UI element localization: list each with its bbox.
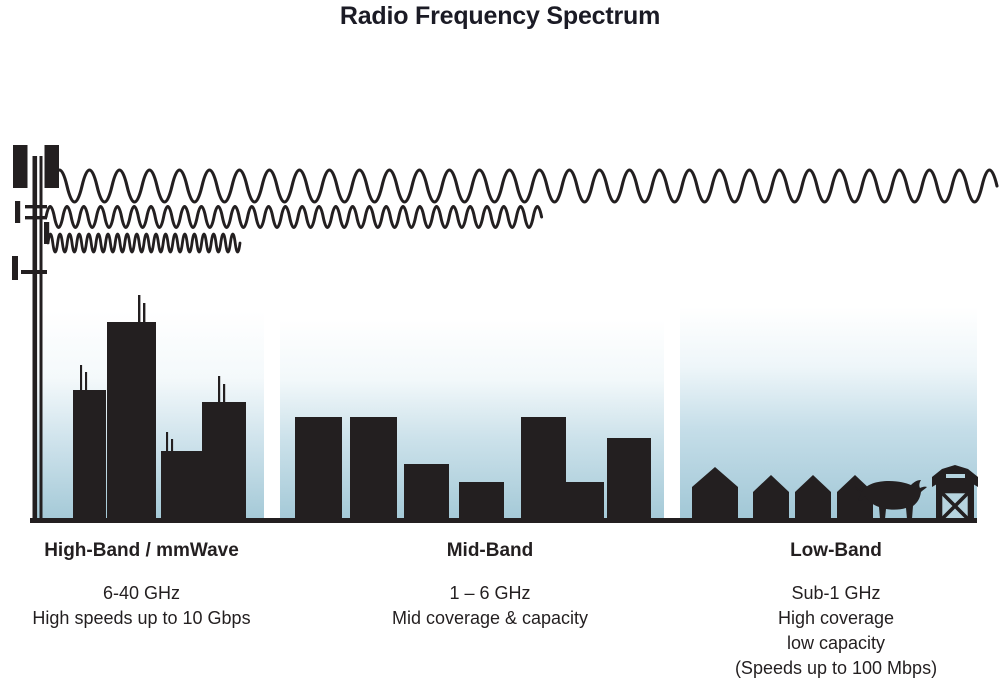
- band-detail-low-band-coverage: High coverage: [672, 606, 1000, 631]
- city-building: [202, 402, 246, 520]
- barn-loft-window: [946, 474, 965, 478]
- tower-crossbar-lower: [21, 270, 47, 274]
- band-frequency-high-band: 6-40 GHz: [0, 581, 283, 606]
- mid-building: [459, 482, 504, 520]
- band-name-low-band: Low-Band: [672, 540, 1000, 562]
- infographic-root: Radio Frequency Spectrum: [0, 0, 1000, 700]
- radio-waves: [46, 170, 997, 252]
- tower-crossbar-upper: [25, 205, 47, 208]
- city-building: [107, 322, 156, 520]
- secondary-antenna-lower: [12, 256, 18, 280]
- band-caption-low-band: Low-Band Sub-1 GHz High coverage low cap…: [672, 540, 1000, 681]
- band-name-high-band: High-Band / mmWave: [0, 540, 283, 562]
- secondary-antenna-left: [15, 201, 20, 223]
- city-building: [161, 451, 202, 520]
- mid-building: [607, 438, 651, 520]
- tower-mast-left: [33, 156, 38, 520]
- city-antenna-spire: [218, 376, 220, 404]
- band-caption-mid-band: Mid-Band 1 – 6 GHz Mid coverage & capaci…: [325, 540, 655, 631]
- mid-building: [521, 417, 566, 520]
- band-name-mid-band: Mid-Band: [325, 540, 655, 562]
- spectrum-illustration: [0, 0, 1000, 540]
- city-antenna-spire: [143, 303, 145, 324]
- city-antenna-spire: [223, 384, 225, 404]
- band-caption-high-band: High-Band / mmWave 6-40 GHz High speeds …: [0, 540, 283, 631]
- spectrum-scene: [0, 0, 1000, 540]
- panel-antenna-left: [13, 145, 28, 188]
- city-building: [73, 390, 106, 520]
- high-frequency-wave: [48, 234, 240, 252]
- tower-mast-right: [40, 156, 43, 520]
- ground-line: [30, 518, 977, 523]
- barn: [932, 465, 978, 520]
- city-antenna-spire: [166, 432, 168, 454]
- band-detail-high-band: High speeds up to 10 Gbps: [0, 606, 283, 631]
- mid-building: [295, 417, 342, 520]
- mid-building: [566, 482, 604, 520]
- panel-antenna-right: [45, 145, 60, 188]
- band-frequency-mid-band: 1 – 6 GHz: [325, 581, 655, 606]
- band-detail-low-band-speed: (Speeds up to 100 Mbps): [672, 656, 1000, 681]
- band-frequency-low-band: Sub-1 GHz: [672, 581, 1000, 606]
- band-captions: High-Band / mmWave 6-40 GHz High speeds …: [0, 540, 1000, 700]
- mid-building: [404, 464, 449, 520]
- band-detail-low-band-capacity: low capacity: [672, 631, 1000, 656]
- mid-building: [350, 417, 397, 520]
- tower-crossbar-mid: [25, 216, 47, 219]
- city-antenna-spire: [138, 295, 140, 324]
- band-detail-mid-band: Mid coverage & capacity: [325, 606, 655, 631]
- secondary-antenna-inner: [44, 222, 49, 244]
- mid-frequency-wave: [46, 207, 542, 228]
- low-frequency-wave: [52, 170, 997, 202]
